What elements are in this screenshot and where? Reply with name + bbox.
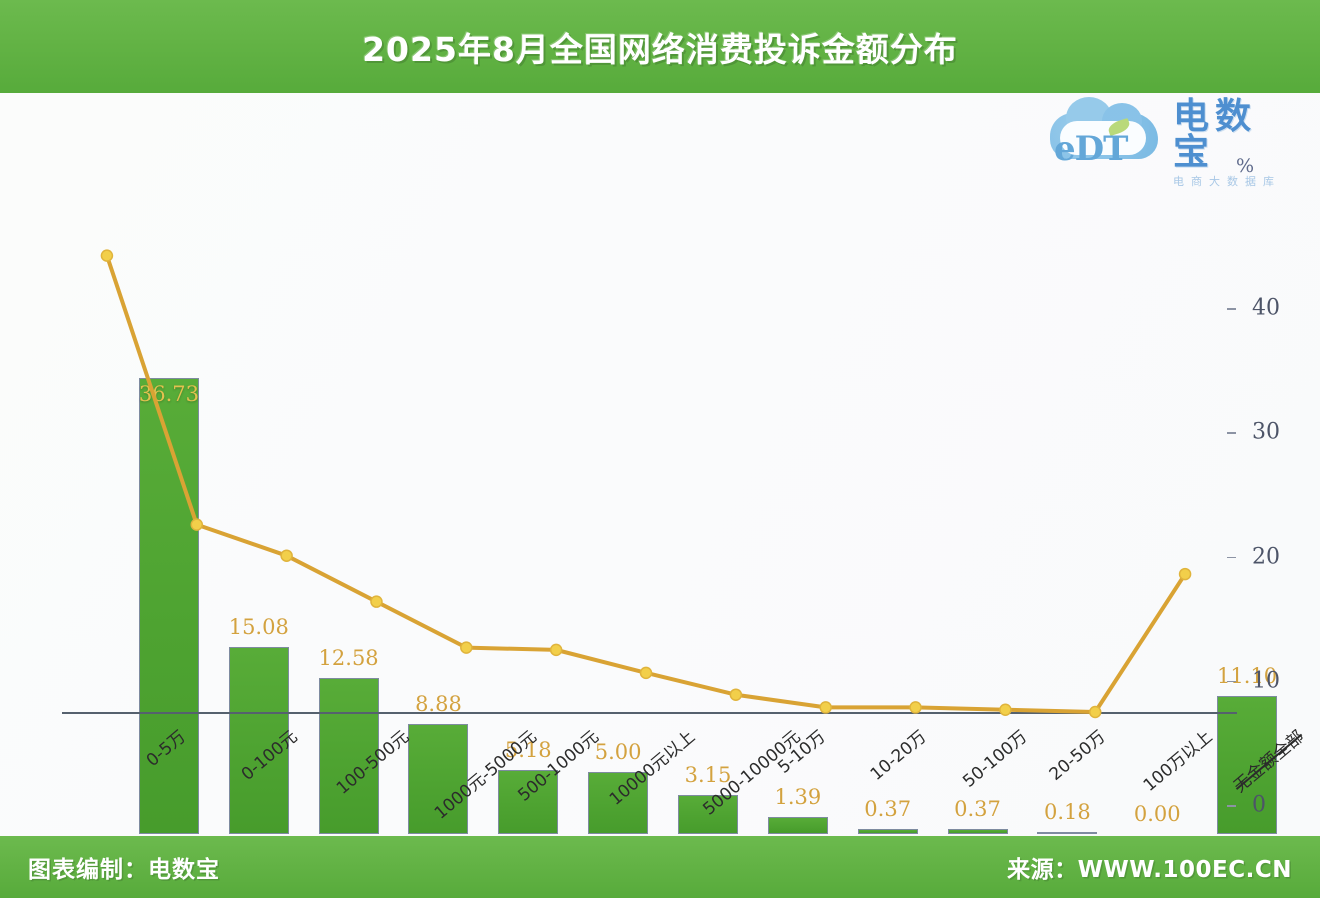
bar-10[interactable] [948,829,1008,834]
y-tick-mark [1227,432,1236,434]
data-label-2: 15.08 [229,615,289,639]
data-label-10: 0.37 [954,797,1001,821]
data-label-6: 5.00 [595,740,642,764]
y-tick-label: 0 [1252,793,1298,818]
footer-source: 来源：WWW.100EC.CN [1007,850,1292,884]
x-tick-label-9: 10-20万 [863,723,930,785]
chart-body: eDT 电数宝 电商大数据库 % 36.7315.0812.588.885.18… [0,93,1320,836]
footer-credit: 图表编制：电数宝 [28,850,220,884]
y-tick-label: 10 [1252,668,1298,693]
data-label-3: 12.58 [319,646,379,670]
chart-page: 2025年8月全国网络消费投诉金额分布 eDT 电数宝 电商大数据库 % 36.… [0,0,1320,898]
y-tick-mark [1227,681,1236,683]
x-tick-label-11: 20-50万 [1043,723,1110,785]
y-tick-label: 30 [1252,420,1298,445]
data-label-9: 0.37 [864,797,911,821]
brand-logo: eDT 电数宝 电商大数据库 [1048,105,1298,181]
y-tick-mark [1227,557,1236,559]
x-tick-label-12: 100万以上 [1137,723,1217,796]
logo-edt-text: eDT [1054,129,1170,169]
x-axis-line [62,712,1237,714]
header-bar: 2025年8月全国网络消费投诉金额分布 [0,0,1320,93]
footer-bar: 图表编制：电数宝 来源：WWW.100EC.CN [0,836,1320,898]
y-tick-mark [1227,805,1236,807]
logo-brand-sub: 电商大数据库 [1173,176,1298,187]
y-axis-unit: % [1236,155,1254,177]
data-label-8: 1.39 [774,785,821,809]
page-title: 2025年8月全国网络消费投诉金额分布 [362,23,958,71]
data-label-12: 0.00 [1134,802,1181,826]
bar-11[interactable] [1037,832,1097,834]
bar-1[interactable] [139,378,199,834]
data-label-1: 36.73 [139,382,199,406]
y-tick-mark [1227,308,1236,310]
x-tick-label-10: 50-100万 [956,723,1031,792]
bar-8[interactable] [768,817,828,834]
bar-9[interactable] [858,829,918,834]
logo-mark: eDT [1048,107,1167,179]
y-tick-label: 40 [1252,296,1298,321]
plot-area: 36.7315.0812.588.885.185.003.151.390.370… [62,215,1230,712]
y-tick-label: 20 [1252,544,1298,569]
data-label-11: 0.18 [1044,800,1091,824]
